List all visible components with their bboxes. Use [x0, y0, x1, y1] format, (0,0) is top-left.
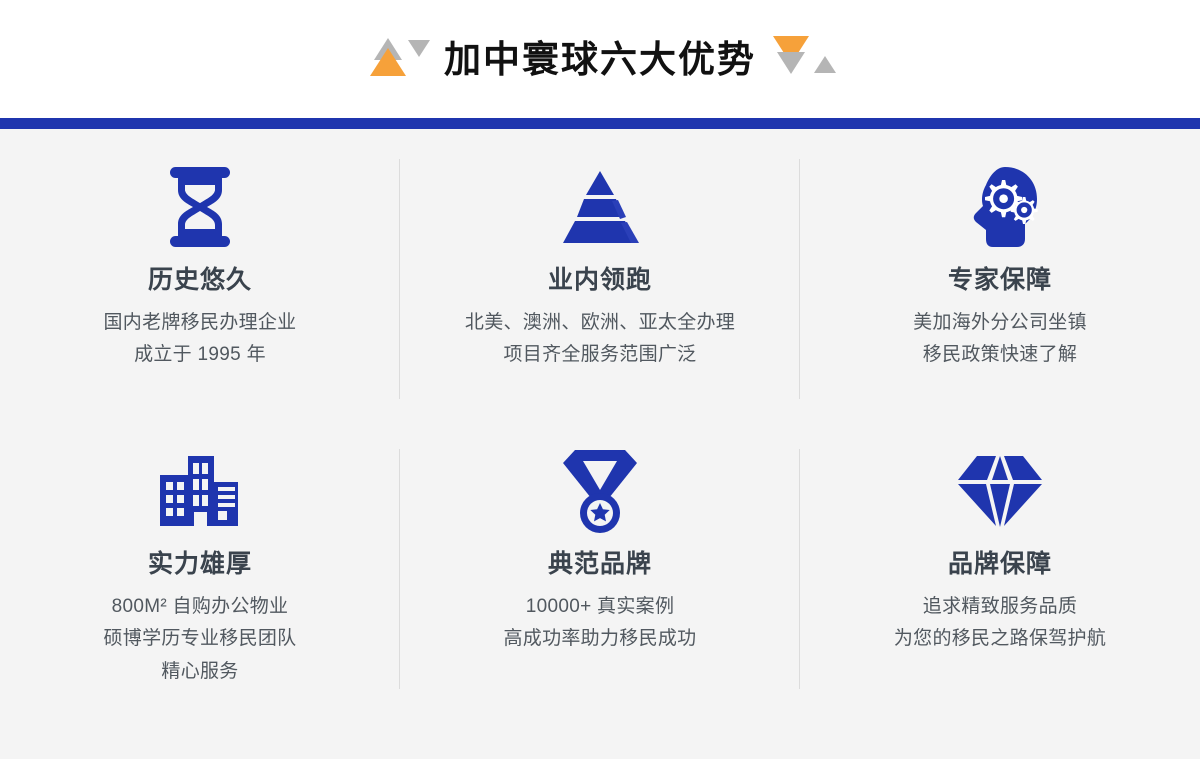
- header-decoration-right: [772, 34, 834, 84]
- advantages-row-1: 历史悠久 国内老牌移民办理企业 成立于 1995 年: [0, 129, 1200, 419]
- card-desc-line: 项目齐全服务范围广泛: [465, 339, 735, 372]
- medal-icon: [561, 441, 639, 541]
- card-title: 历史悠久: [148, 267, 252, 295]
- card-title: 专家保障: [948, 267, 1052, 295]
- card-description: 国内老牌移民办理企业 成立于 1995 年: [103, 307, 296, 372]
- gray-triangle-up-icon: [814, 56, 836, 73]
- card-desc-line: 美加海外分公司坐镇: [913, 307, 1087, 340]
- card-desc-line: 高成功率助力移民成功: [503, 623, 696, 656]
- brain-gears-icon: [957, 157, 1043, 257]
- card-desc-line: 成立于 1995 年: [103, 339, 296, 372]
- advantages-section: 历史悠久 国内老牌移民办理企业 成立于 1995 年: [0, 129, 1200, 759]
- advantage-card: 专家保障 美加海外分公司坐镇 移民政策快速了解: [800, 129, 1200, 419]
- card-desc-line: 10000+ 真实案例: [503, 591, 696, 624]
- card-title: 典范品牌: [548, 551, 652, 579]
- card-description: 美加海外分公司坐镇 移民政策快速了解: [913, 307, 1087, 372]
- advantage-card: 实力雄厚 800M² 自购办公物业 硕博学历专业移民团队 精心服务: [0, 419, 400, 704]
- diamond-icon: [956, 441, 1044, 541]
- card-desc-line: 北美、澳洲、欧洲、亚太全办理: [465, 307, 735, 340]
- advantages-row-2: 实力雄厚 800M² 自购办公物业 硕博学历专业移民团队 精心服务: [0, 419, 1200, 704]
- gray-triangle-down-icon: [408, 40, 430, 57]
- advantage-card: 典范品牌 10000+ 真实案例 高成功率助力移民成功: [400, 419, 800, 704]
- card-description: 800M² 自购办公物业 硕博学历专业移民团队 精心服务: [103, 591, 296, 689]
- card-title: 品牌保障: [948, 551, 1052, 579]
- header-decoration-left: [366, 34, 428, 84]
- card-desc-line: 追求精致服务品质: [894, 591, 1106, 624]
- card-description: 10000+ 真实案例 高成功率助力移民成功: [503, 591, 696, 656]
- card-desc-line: 精心服务: [103, 656, 296, 689]
- card-title: 业内领跑: [548, 267, 652, 295]
- card-desc-line: 为您的移民之路保驾护航: [894, 623, 1106, 656]
- card-description: 追求精致服务品质 为您的移民之路保驾护航: [894, 591, 1106, 656]
- card-description: 北美、澳洲、欧洲、亚太全办理 项目齐全服务范围广泛: [465, 307, 735, 372]
- card-title: 实力雄厚: [148, 551, 252, 579]
- page-title: 加中寰球六大优势: [444, 41, 756, 78]
- advantage-card: 业内领跑 北美、澳洲、欧洲、亚太全办理 项目齐全服务范围广泛: [400, 129, 800, 419]
- card-desc-line: 移民政策快速了解: [913, 339, 1087, 372]
- gray-triangle-down-icon: [777, 52, 805, 74]
- advantage-card: 品牌保障 追求精致服务品质 为您的移民之路保驾护航: [800, 419, 1200, 704]
- header-blue-divider: [0, 118, 1200, 129]
- card-desc-line: 800M² 自购办公物业: [103, 591, 296, 624]
- card-desc-line: 国内老牌移民办理企业: [103, 307, 296, 340]
- hourglass-icon: [163, 157, 237, 257]
- orange-triangle-up-icon: [370, 48, 406, 76]
- card-desc-line: 硕博学历专业移民团队: [103, 623, 296, 656]
- pyramid-icon: [557, 157, 643, 257]
- office-buildings-icon: [158, 441, 242, 541]
- advantage-card: 历史悠久 国内老牌移民办理企业 成立于 1995 年: [0, 129, 400, 419]
- advantages-page: 加中寰球六大优势 历史悠久: [0, 0, 1200, 759]
- page-header: 加中寰球六大优势: [0, 0, 1200, 118]
